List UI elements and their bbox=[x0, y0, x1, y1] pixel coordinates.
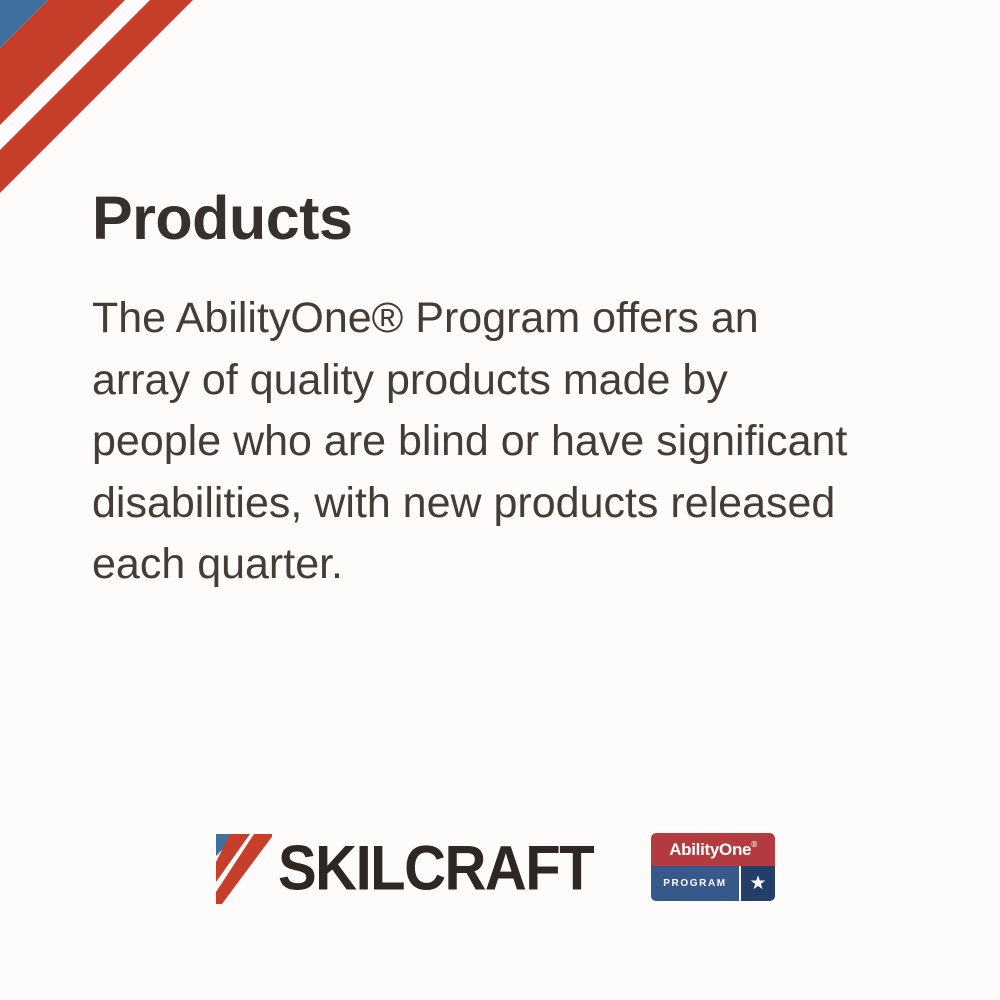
flag-red-stripe-2 bbox=[0, 0, 196, 196]
footer-logo-row: SKILCRAFT AbilityOne® PROGRAM ★ bbox=[0, 818, 1000, 918]
abilityone-program-label: PROGRAM bbox=[663, 879, 726, 889]
abilityone-logo: AbilityOne® PROGRAM ★ bbox=[651, 833, 775, 901]
body-paragraph: The AbilityOne® Program offers an array … bbox=[92, 288, 852, 595]
abilityone-name-block: AbilityOne® bbox=[651, 833, 775, 866]
page-title: Products bbox=[92, 186, 892, 250]
abilityone-program-cell: PROGRAM bbox=[651, 866, 741, 901]
flag-white-stripe-2 bbox=[0, 0, 152, 152]
flag-blue-wedge bbox=[0, 0, 108, 108]
flag-blue-wedge-body bbox=[0, 0, 48, 48]
flag-blue-wedge-top bbox=[0, 0, 22, 22]
abilityone-name: AbilityOne® bbox=[669, 841, 757, 858]
skilcraft-logo: SKILCRAFT bbox=[216, 834, 593, 904]
content-block: Products The AbilityOne® Program offers … bbox=[92, 186, 892, 595]
abilityone-name-text: AbilityOne bbox=[669, 840, 751, 859]
product-info-card: Products The AbilityOne® Program offers … bbox=[0, 0, 1000, 1000]
registered-trademark-icon: ® bbox=[751, 840, 757, 849]
flag-white-stripe-1 bbox=[0, 0, 48, 48]
star-icon: ★ bbox=[749, 874, 766, 893]
skilcraft-flag-mark-icon bbox=[216, 834, 272, 904]
abilityone-program-block: PROGRAM ★ bbox=[651, 866, 775, 901]
skilcraft-wordmark: SKILCRAFT bbox=[278, 838, 593, 901]
abilityone-star-cell: ★ bbox=[741, 866, 775, 901]
flag-red-stripe-1 bbox=[0, 0, 128, 128]
